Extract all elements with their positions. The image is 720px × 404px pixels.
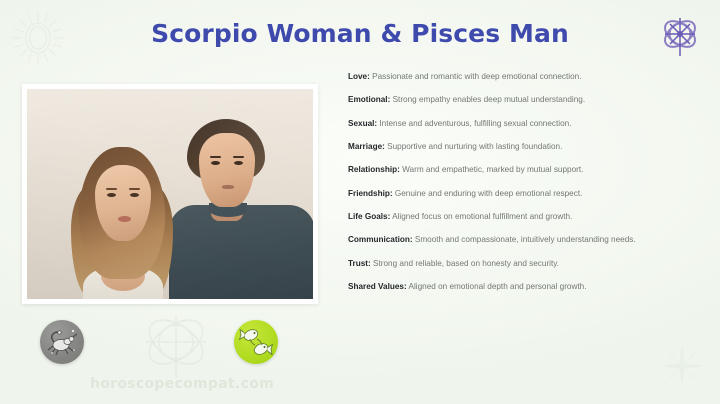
trait-description: Strong empathy enables deep mutual under… bbox=[390, 95, 585, 104]
trait-row: Love: Passionate and romantic with deep … bbox=[348, 72, 710, 82]
page-title: Scorpio Woman & Pisces Man bbox=[0, 19, 720, 48]
trait-label: Love: bbox=[348, 72, 370, 81]
trait-label: Trust: bbox=[348, 259, 371, 268]
trait-label: Marriage: bbox=[348, 142, 385, 151]
atom-orbital-watermark-icon bbox=[130, 308, 222, 382]
scorpion-icon bbox=[40, 320, 84, 364]
trait-row: Friendship: Genuine and enduring with de… bbox=[348, 189, 710, 199]
compatibility-traits-list: Love: Passionate and romantic with deep … bbox=[348, 72, 710, 305]
site-watermark: horoscopecompat.com bbox=[84, 376, 280, 392]
two-fish-icon bbox=[234, 320, 278, 364]
trait-description: Passionate and romantic with deep emotio… bbox=[370, 72, 582, 81]
trait-description: Genuine and enduring with deep emotional… bbox=[393, 189, 583, 198]
photo-shading-overlay bbox=[27, 89, 313, 299]
sign-badge-pisces[interactable] bbox=[234, 320, 278, 364]
trait-description: Intense and adventurous, fulfilling sexu… bbox=[377, 119, 571, 128]
trait-row: Emotional: Strong empathy enables deep m… bbox=[348, 95, 710, 105]
trait-row: Shared Values: Aligned on emotional dept… bbox=[348, 282, 710, 292]
trait-label: Life Goals: bbox=[348, 212, 390, 221]
trait-row: Trust: Strong and reliable, based on hon… bbox=[348, 259, 710, 269]
trait-label: Emotional: bbox=[348, 95, 390, 104]
trait-label: Relationship: bbox=[348, 165, 400, 174]
trait-row: Life Goals: Aligned focus on emotional f… bbox=[348, 212, 710, 222]
infographic-card: Scorpio Woman & Pisces Man bbox=[0, 0, 720, 404]
trait-description: Aligned focus on emotional fulfillment a… bbox=[390, 212, 572, 221]
trait-description: Strong and reliable, based on honesty an… bbox=[371, 259, 559, 268]
trait-row: Sexual: Intense and adventurous, fulfill… bbox=[348, 119, 710, 129]
trait-label: Friendship: bbox=[348, 189, 393, 198]
trait-label: Communication: bbox=[348, 235, 413, 244]
couple-photo-frame bbox=[22, 84, 318, 304]
trait-row: Communication: Smooth and compassionate,… bbox=[348, 235, 710, 245]
trait-description: Smooth and compassionate, intuitively un… bbox=[413, 235, 636, 244]
trait-description: Warm and empathetic, marked by mutual su… bbox=[400, 165, 584, 174]
trait-description: Supportive and nurturing with lasting fo… bbox=[385, 142, 563, 151]
sign-badge-scorpio[interactable] bbox=[40, 320, 84, 364]
couple-portrait bbox=[27, 89, 313, 299]
trait-row: Relationship: Warm and empathetic, marke… bbox=[348, 165, 710, 175]
trait-description: Aligned on emotional depth and personal … bbox=[407, 282, 587, 291]
trait-label: Shared Values: bbox=[348, 282, 407, 291]
trait-label: Sexual: bbox=[348, 119, 377, 128]
trait-row: Marriage: Supportive and nurturing with … bbox=[348, 142, 710, 152]
sparkle-star-icon bbox=[656, 340, 708, 392]
